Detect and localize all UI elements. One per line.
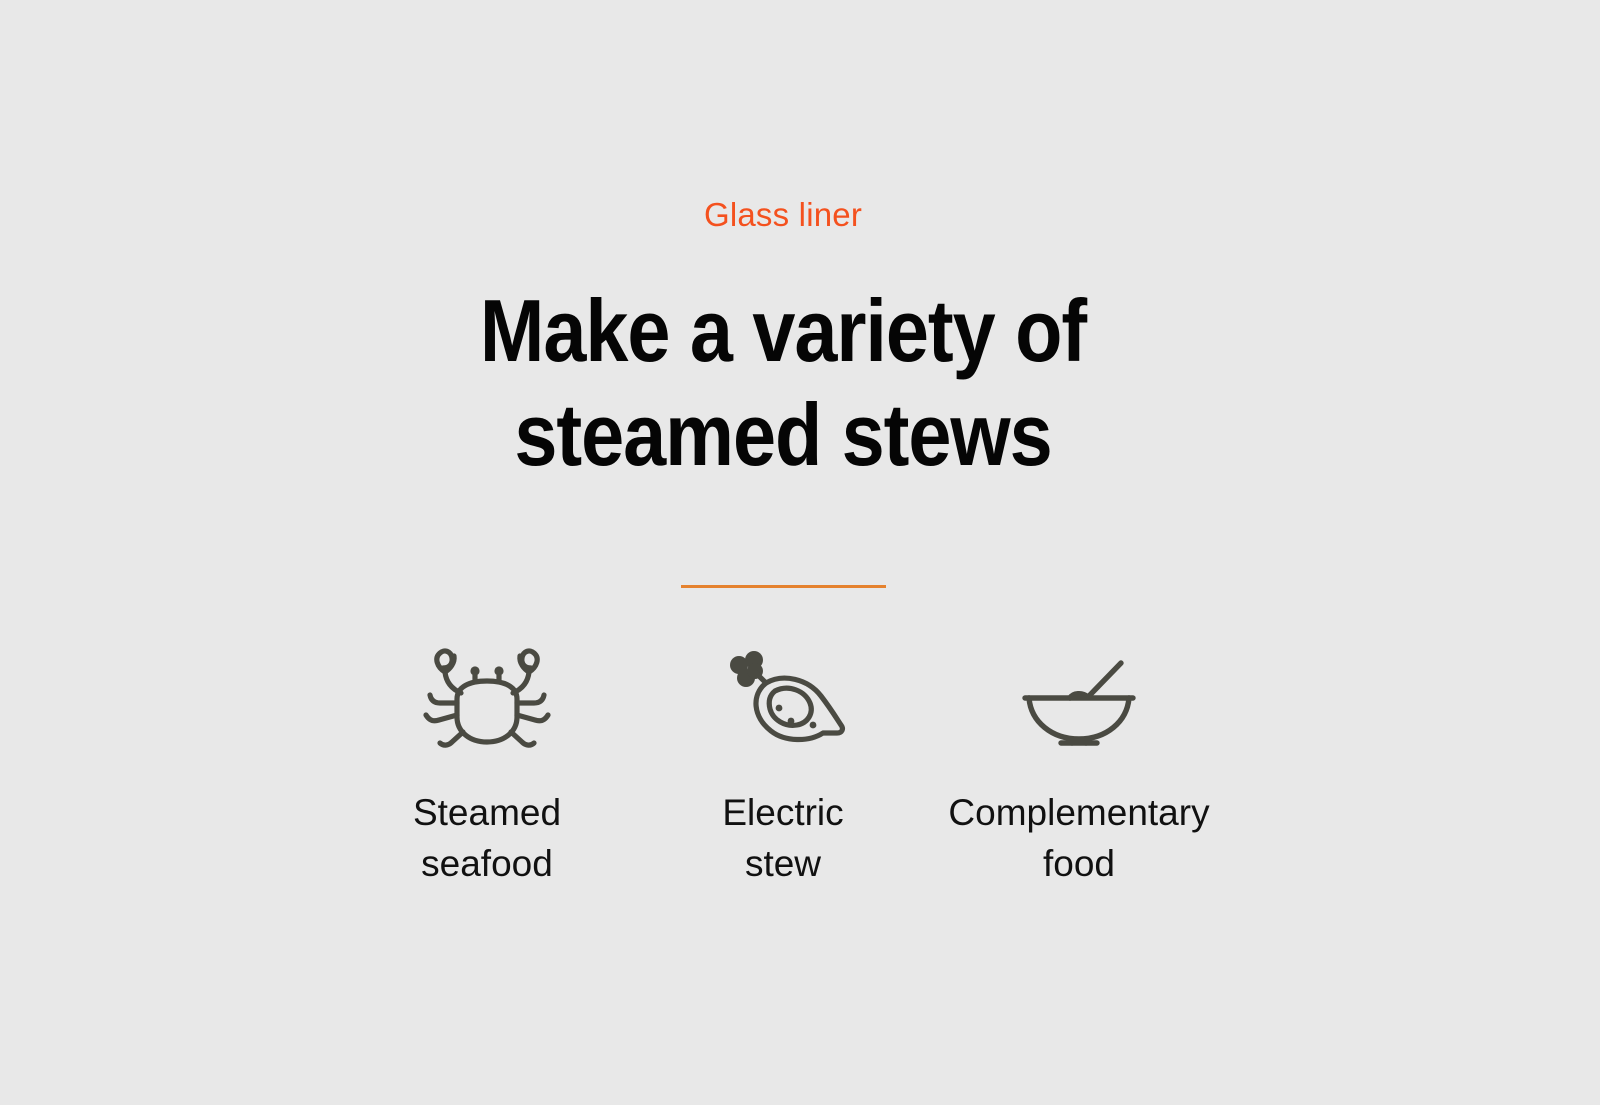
slide-content: Glass liner Make a variety of steamed st… — [0, 0, 1566, 1105]
eyebrow-label: Glass liner — [704, 198, 862, 231]
feature-item-complementary-food[interactable]: Complementary food — [931, 639, 1227, 889]
page-title: Make a variety of steamed stews — [449, 279, 1118, 487]
feature-item-steamed-seafood[interactable]: Steamed seafood — [339, 639, 635, 889]
feature-label-steamed-seafood: Steamed seafood — [413, 787, 561, 889]
slide-canvas: Glass liner Make a variety of steamed st… — [0, 0, 1600, 1105]
divider-container — [0, 585, 1566, 589]
accent-divider — [681, 585, 886, 588]
feature-label-complementary-food: Complementary food — [948, 787, 1209, 889]
feature-row: Steamed seafood — [339, 639, 1227, 889]
bowl-with-spoon-icon — [1004, 639, 1154, 759]
feature-label-electric-stew: Electric stew — [722, 787, 843, 889]
chicken-leg-icon — [713, 639, 853, 759]
feature-item-electric-stew[interactable]: Electric stew — [635, 639, 931, 889]
crab-icon — [412, 639, 562, 759]
